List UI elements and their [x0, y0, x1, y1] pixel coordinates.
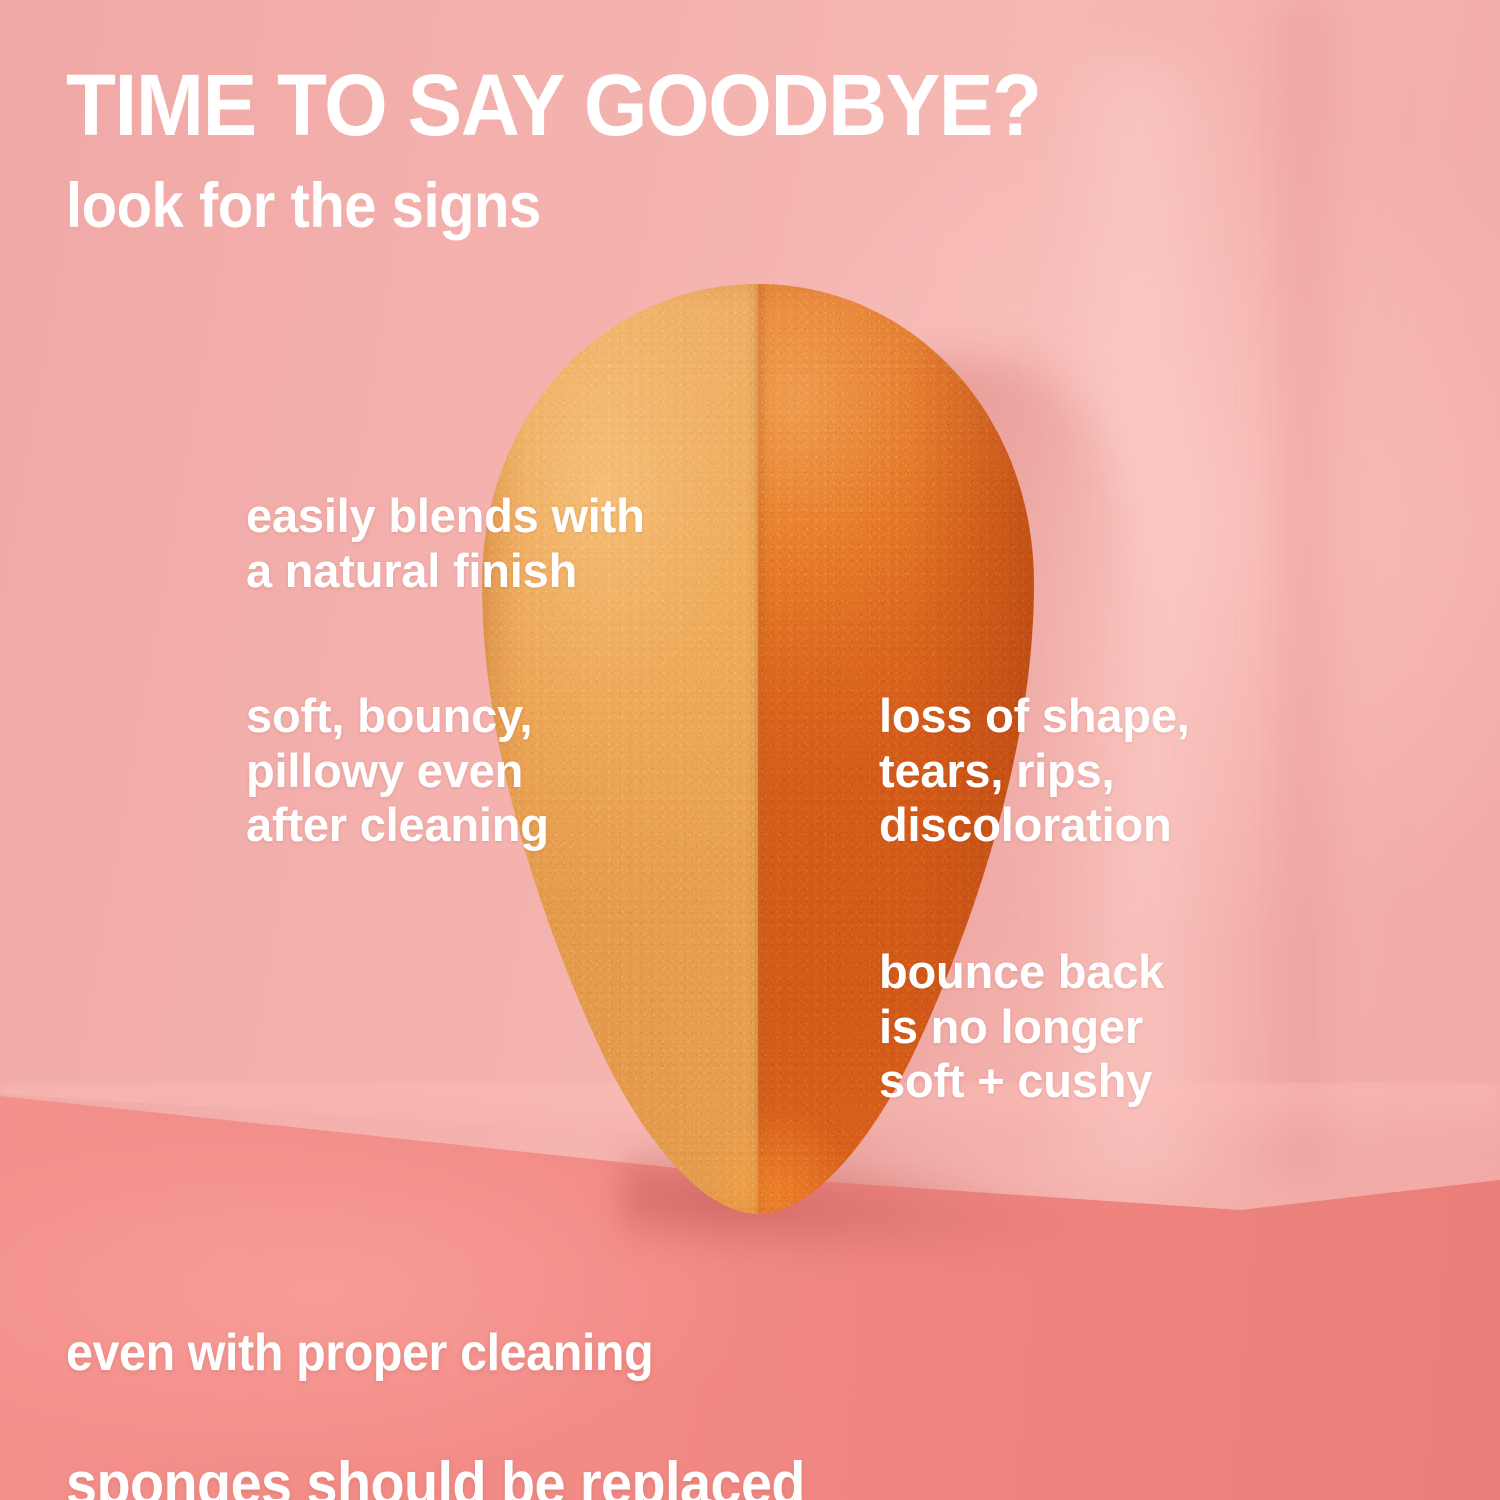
callout-loss-of-shape: loss of shape, tears, rips, discoloratio… [879, 689, 1190, 853]
footer-main-line: sponges should be replaced every 30-60 d… [66, 1450, 805, 1500]
callout-easily-blends: easily blends with a natural finish [246, 489, 645, 598]
infographic-canvas: TIME TO SAY GOODBYE? look for the signs … [0, 0, 1500, 1500]
page-subtitle: look for the signs [66, 175, 541, 238]
callout-bounce-back: bounce back is no longer soft + cushy [879, 945, 1164, 1109]
footer-lead-line: even with proper cleaning [66, 1324, 805, 1382]
callout-soft-bouncy: soft, bouncy, pillowy even after cleanin… [246, 689, 549, 853]
footer-block: even with proper cleaning sponges should… [66, 1257, 805, 1500]
page-title: TIME TO SAY GOODBYE? [66, 62, 1041, 149]
backdrop-right-seam [1255, 0, 1395, 1180]
